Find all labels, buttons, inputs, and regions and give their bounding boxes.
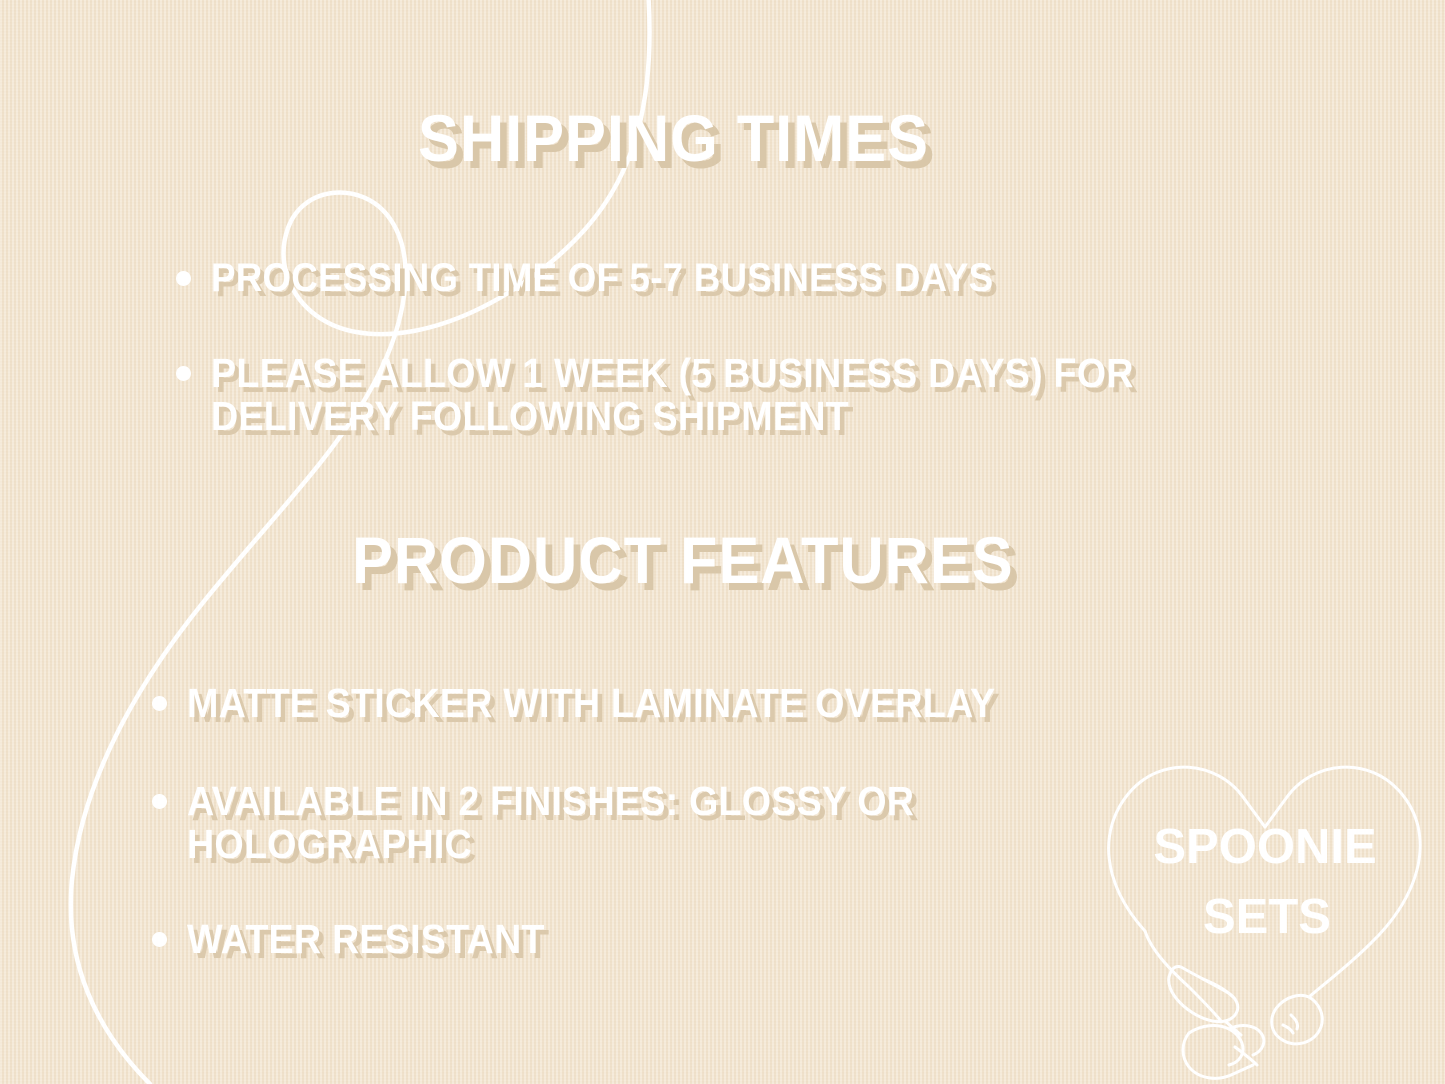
list-item: WATER RESISTANT [152,918,1052,961]
page-title-product-features: PRODUCT FEATURES [352,522,1014,598]
list-item: PLEASE ALLOW 1 WEEK (5 BUSINESS DAYS) FO… [176,352,1426,439]
bullet-dot-icon [176,366,191,381]
list-item: MATTE STICKER WITH LAMINATE OVERLAY [152,682,1302,725]
bullet-dot-icon [152,932,167,947]
list-item-label: PROCESSING TIME OF 5-7 BUSINESS DAYS [211,257,993,299]
list-item-label: MATTE STICKER WITH LAMINATE OVERLAY [187,682,995,725]
brand-logo: SPOONIE SETS [1085,735,1445,1084]
bullet-dot-icon [152,794,167,809]
shipping-info-graphic: SHIPPING TIMES PROCESSING TIME OF 5-7 BU… [0,0,1445,1084]
list-item: PROCESSING TIME OF 5-7 BUSINESS DAYS [176,257,1376,299]
list-item-label: PLEASE ALLOW 1 WEEK (5 BUSINESS DAYS) FO… [211,352,1329,439]
logo-line-2: SETS [1203,890,1331,944]
list-item-label: WATER RESISTANT [187,918,545,961]
bullet-dot-icon [176,271,191,286]
page-title-shipping-times: SHIPPING TIMES [418,100,929,176]
bullet-dot-icon [152,696,167,711]
logo-line-1: SPOONIE [1153,820,1376,874]
list-item-label: AVAILABLE IN 2 FINISHES: GLOSSY OR HOLOG… [187,780,1121,867]
list-item: AVAILABLE IN 2 FINISHES: GLOSSY OR HOLOG… [152,780,1202,867]
